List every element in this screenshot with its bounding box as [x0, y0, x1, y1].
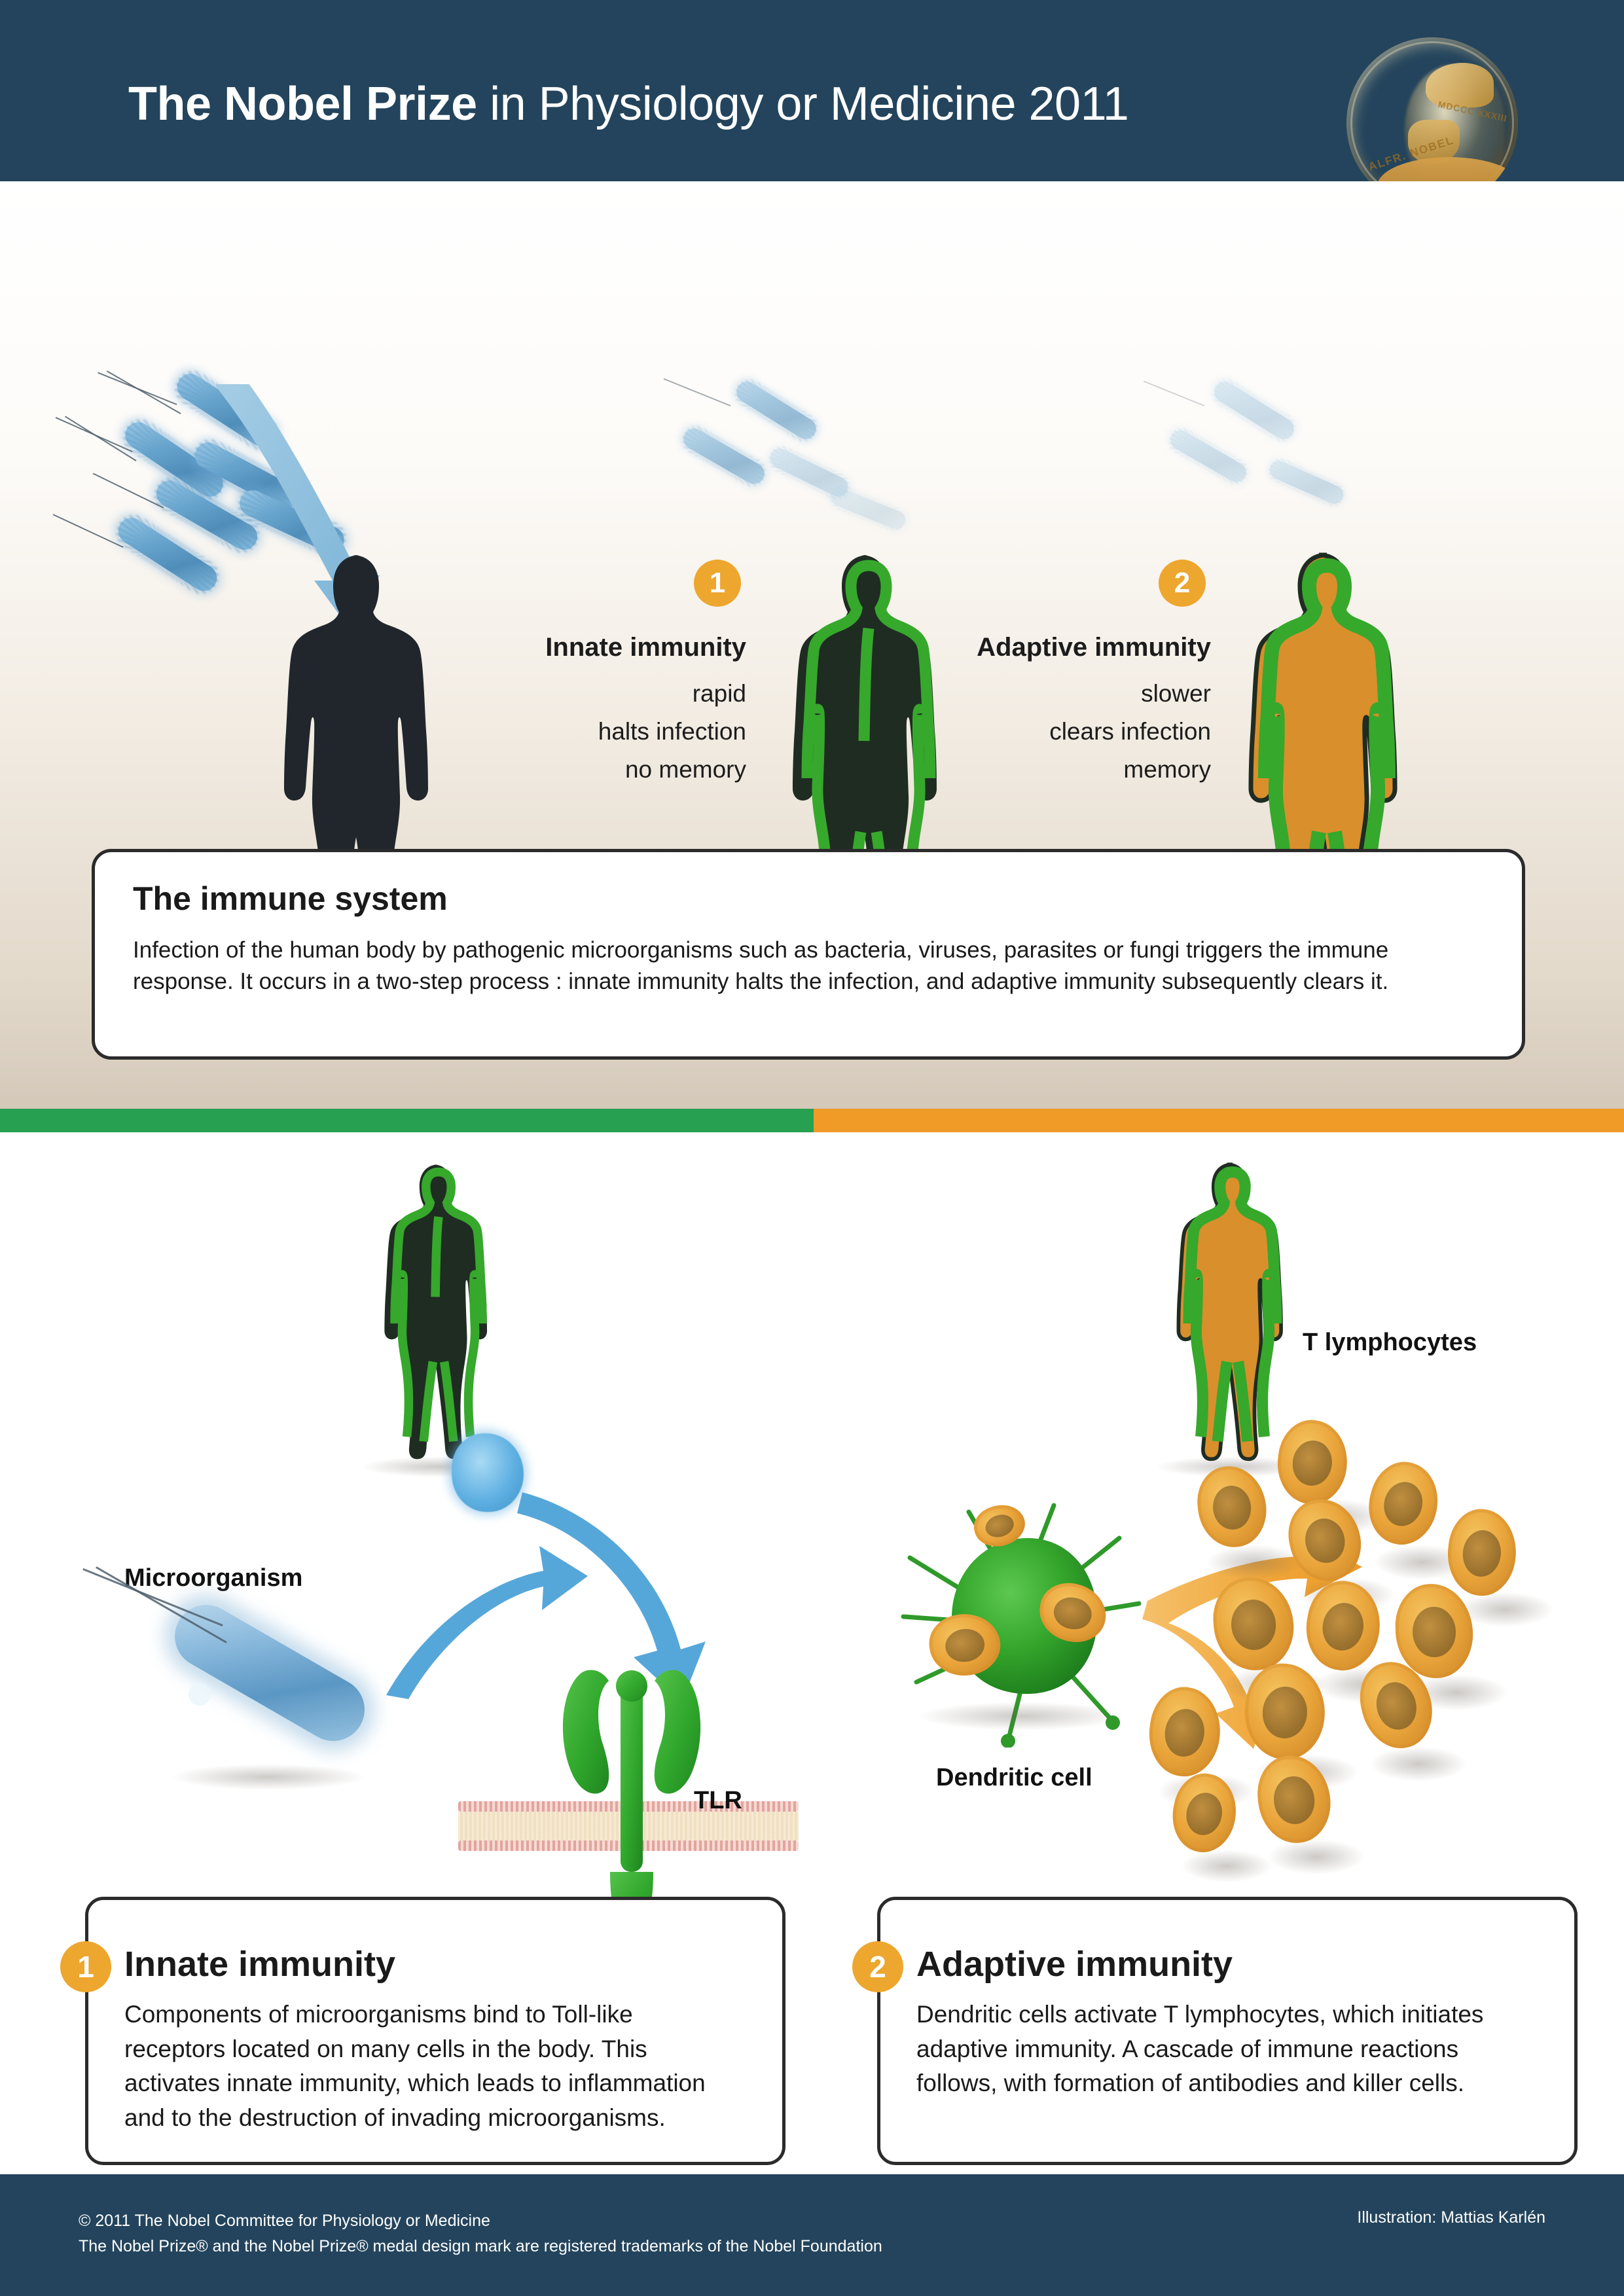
t-lymphocyte	[1272, 1416, 1353, 1509]
footer-copyright: © 2011 The Nobel Committee for Physiolog…	[79, 2208, 882, 2259]
t-lymphocyte-shadow	[1369, 1746, 1468, 1782]
body-silhouette-green-outline-small	[371, 1162, 506, 1469]
callout-body: Infection of the human body by pathogeni…	[133, 935, 1449, 998]
medal-hair	[1426, 63, 1494, 107]
callout-title: The immune system	[133, 880, 448, 918]
flagellum	[93, 473, 164, 508]
t-lymphocyte	[1443, 1506, 1520, 1599]
flagellum	[1144, 381, 1204, 406]
microorganism-label: Microorganism	[124, 1564, 302, 1592]
infobox-2-body: Dendritic cells activate T lymphocytes, …	[916, 1998, 1532, 2101]
t-lymphocyte-shadow	[1267, 1839, 1365, 1874]
page-header: The Nobel Prize in Physiology or Medicin…	[0, 0, 1624, 181]
divider-orange-segment	[814, 1109, 1624, 1132]
microorganism-nucleoid	[185, 1679, 215, 1710]
bacterium	[828, 485, 908, 531]
bacterium	[1167, 427, 1250, 486]
step-1-line-3: no memory	[458, 756, 746, 783]
step-1-line-1: rapid	[458, 680, 746, 708]
human-figure-innate-small	[371, 1162, 506, 1473]
footer-copyright-line-2: The Nobel Prize® and the Nobel Prize® me…	[79, 2234, 882, 2259]
step-badge-1: 1	[694, 560, 741, 607]
bacterium	[732, 378, 820, 443]
mechanism-panel: Microorganism	[0, 1132, 1624, 2174]
step-1-heading: Innate immunity	[458, 633, 746, 662]
step-2-heading: Adaptive immunity	[916, 633, 1211, 662]
step-2-line-3: memory	[916, 756, 1211, 783]
footer-illustration-credit: Illustration: Mattias Karlén	[1357, 2208, 1545, 2227]
step-2-line-2: clears infection	[916, 718, 1211, 745]
step-2-line-1: slower	[916, 680, 1211, 708]
microorganism-body	[163, 1593, 376, 1752]
fragment-body	[452, 1433, 524, 1512]
dendritic-cell-shadow	[916, 1702, 1126, 1731]
immune-system-callout: The immune system Infection of the human…	[92, 849, 1525, 1060]
step-1-line-2: halts infection	[458, 718, 746, 745]
infobox-1-body: Components of microorganisms bind to Tol…	[124, 1998, 740, 2135]
bacterium	[1210, 378, 1298, 443]
microorganism-shadow	[170, 1764, 367, 1790]
t-lymphocyte	[1210, 1575, 1297, 1673]
infobox-2-title: Adaptive immunity	[916, 1944, 1233, 1984]
flagellum	[107, 370, 181, 414]
page-footer: © 2011 The Nobel Committee for Physiolog…	[0, 2174, 1624, 2296]
dendritic-cell	[897, 1486, 1159, 1748]
infobox-badge-2: 2	[852, 1941, 903, 1992]
bacterium	[679, 425, 768, 488]
bacterium	[1267, 458, 1346, 507]
microorganism-fragment	[452, 1433, 524, 1512]
t-lymphocyte-shadow	[1181, 1850, 1272, 1882]
t-lymphocyte	[1394, 1583, 1475, 1679]
t-lymphocyte-field	[1218, 1381, 1623, 1865]
infobox-badge-1: 1	[60, 1941, 111, 1992]
flagellum	[664, 378, 731, 406]
page-title-bold: The Nobel Prize	[128, 78, 477, 130]
flagellum	[53, 514, 124, 548]
dendritic-cell-label: Dendritic cell	[936, 1764, 1092, 1792]
t-lymphocyte-shadow	[1206, 1545, 1304, 1580]
page-title-light: in Physiology or Medicine 2011	[477, 78, 1129, 130]
tlr-label: TLR	[694, 1787, 742, 1815]
section-divider	[0, 1109, 1624, 1132]
step-badge-2: 2	[1159, 560, 1206, 607]
page-title: The Nobel Prize in Physiology or Medicin…	[128, 77, 1128, 131]
divider-green-segment	[0, 1109, 814, 1132]
infobox-1-title: Innate immunity	[124, 1944, 395, 1984]
footer-copyright-line-1: © 2011 The Nobel Committee for Physiolog…	[79, 2208, 882, 2234]
t-lymphocytes-label: T lymphocytes	[1303, 1329, 1477, 1357]
t-lymphocyte	[1360, 1454, 1448, 1552]
infographic-page: The Nobel Prize in Physiology or Medicin…	[0, 0, 1624, 2296]
overview-panel: 1 Innate immunity rapid halts infection …	[0, 181, 1624, 1109]
